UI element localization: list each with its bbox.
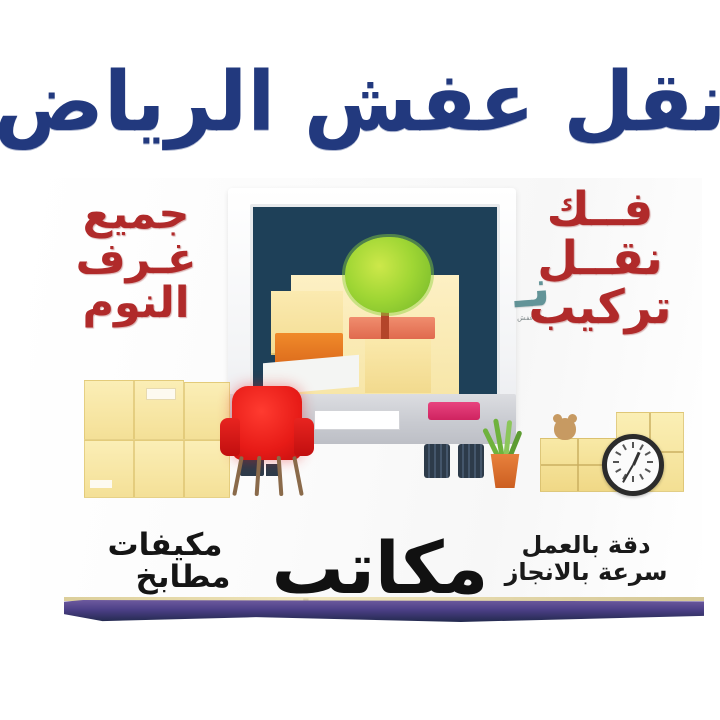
left-service-line-1: جميع bbox=[52, 192, 220, 237]
stacked-boxes-illustration bbox=[72, 376, 232, 498]
teddy-bear-icon bbox=[554, 418, 576, 440]
poster-body-panel: جميع غـرف النوم فــك نقــل تركيب bbox=[30, 178, 702, 610]
red-armchair-illustration bbox=[216, 386, 318, 498]
bottom-left-line-1: مكيفات bbox=[64, 529, 284, 562]
license-plate bbox=[314, 410, 400, 430]
truck-wheel-icon bbox=[424, 444, 450, 478]
bottom-center-headline: مكاتب bbox=[252, 534, 508, 602]
cargo-box-salmon bbox=[349, 317, 435, 339]
clock-tick bbox=[615, 468, 621, 473]
armchair-arm-left bbox=[220, 418, 240, 456]
clock-tick bbox=[632, 442, 634, 448]
cardboard-box-icon bbox=[84, 440, 134, 498]
box-label bbox=[146, 388, 176, 400]
bottom-purple-bar bbox=[64, 600, 704, 622]
shelf-divider bbox=[577, 439, 579, 491]
clock-tick bbox=[622, 444, 627, 450]
clock-tick bbox=[632, 476, 634, 482]
cargo-box-mid bbox=[365, 335, 431, 393]
clock-tick bbox=[613, 461, 619, 463]
clock-tick bbox=[639, 474, 644, 480]
ad-poster: نقل عفش الرياض جميع غـرف النوم فــك نقــ… bbox=[0, 0, 720, 720]
home-furniture-illustration bbox=[486, 404, 684, 504]
truck-cargo-opening bbox=[250, 204, 500, 398]
right-service-line-3: تركيب bbox=[512, 284, 688, 333]
page-title: نقل عفش الرياض bbox=[0, 62, 720, 144]
right-service-line-1: فــك bbox=[512, 186, 688, 235]
armchair-leg bbox=[277, 456, 284, 496]
clock-tick bbox=[615, 451, 621, 456]
armchair-leg bbox=[292, 456, 304, 496]
bottom-left-line-2: مطابخ bbox=[64, 561, 284, 594]
bottom-right-slogan: دقة بالعمل سرعة بالانجاز bbox=[486, 532, 686, 586]
clock-tick bbox=[645, 451, 651, 456]
bottom-right-line-2: سرعة بالانجاز bbox=[486, 559, 686, 586]
armchair-leg bbox=[232, 456, 244, 496]
right-services-block: فــك نقــل تركيب bbox=[512, 186, 688, 333]
clock-hour-hand bbox=[632, 452, 640, 466]
right-service-line-2: نقــل bbox=[512, 235, 688, 284]
truck-wheel-icon bbox=[458, 444, 484, 478]
box-label bbox=[90, 480, 112, 488]
taillight-icon bbox=[428, 402, 480, 420]
cardboard-box-icon bbox=[84, 380, 134, 440]
potted-tree-icon bbox=[345, 237, 431, 313]
bottom-right-line-1: دقة بالعمل bbox=[486, 532, 686, 559]
potted-plant-icon bbox=[488, 454, 522, 488]
cardboard-box-icon bbox=[134, 440, 184, 498]
wall-clock-icon bbox=[602, 434, 664, 496]
left-service-line-3: النوم bbox=[52, 281, 220, 326]
clock-tick bbox=[647, 461, 653, 463]
clock-tick bbox=[645, 468, 651, 473]
bottom-left-services: مكيفات مطابخ bbox=[64, 529, 284, 594]
armchair-arm-right bbox=[294, 418, 314, 456]
left-services-block: جميع غـرف النوم bbox=[52, 192, 220, 326]
left-service-line-2: غـرف bbox=[52, 237, 220, 282]
clock-tick bbox=[639, 444, 644, 450]
armchair-back bbox=[232, 386, 302, 460]
poster-title-bar: نقل عفش الرياض bbox=[0, 48, 720, 158]
armchair-leg bbox=[255, 456, 262, 496]
